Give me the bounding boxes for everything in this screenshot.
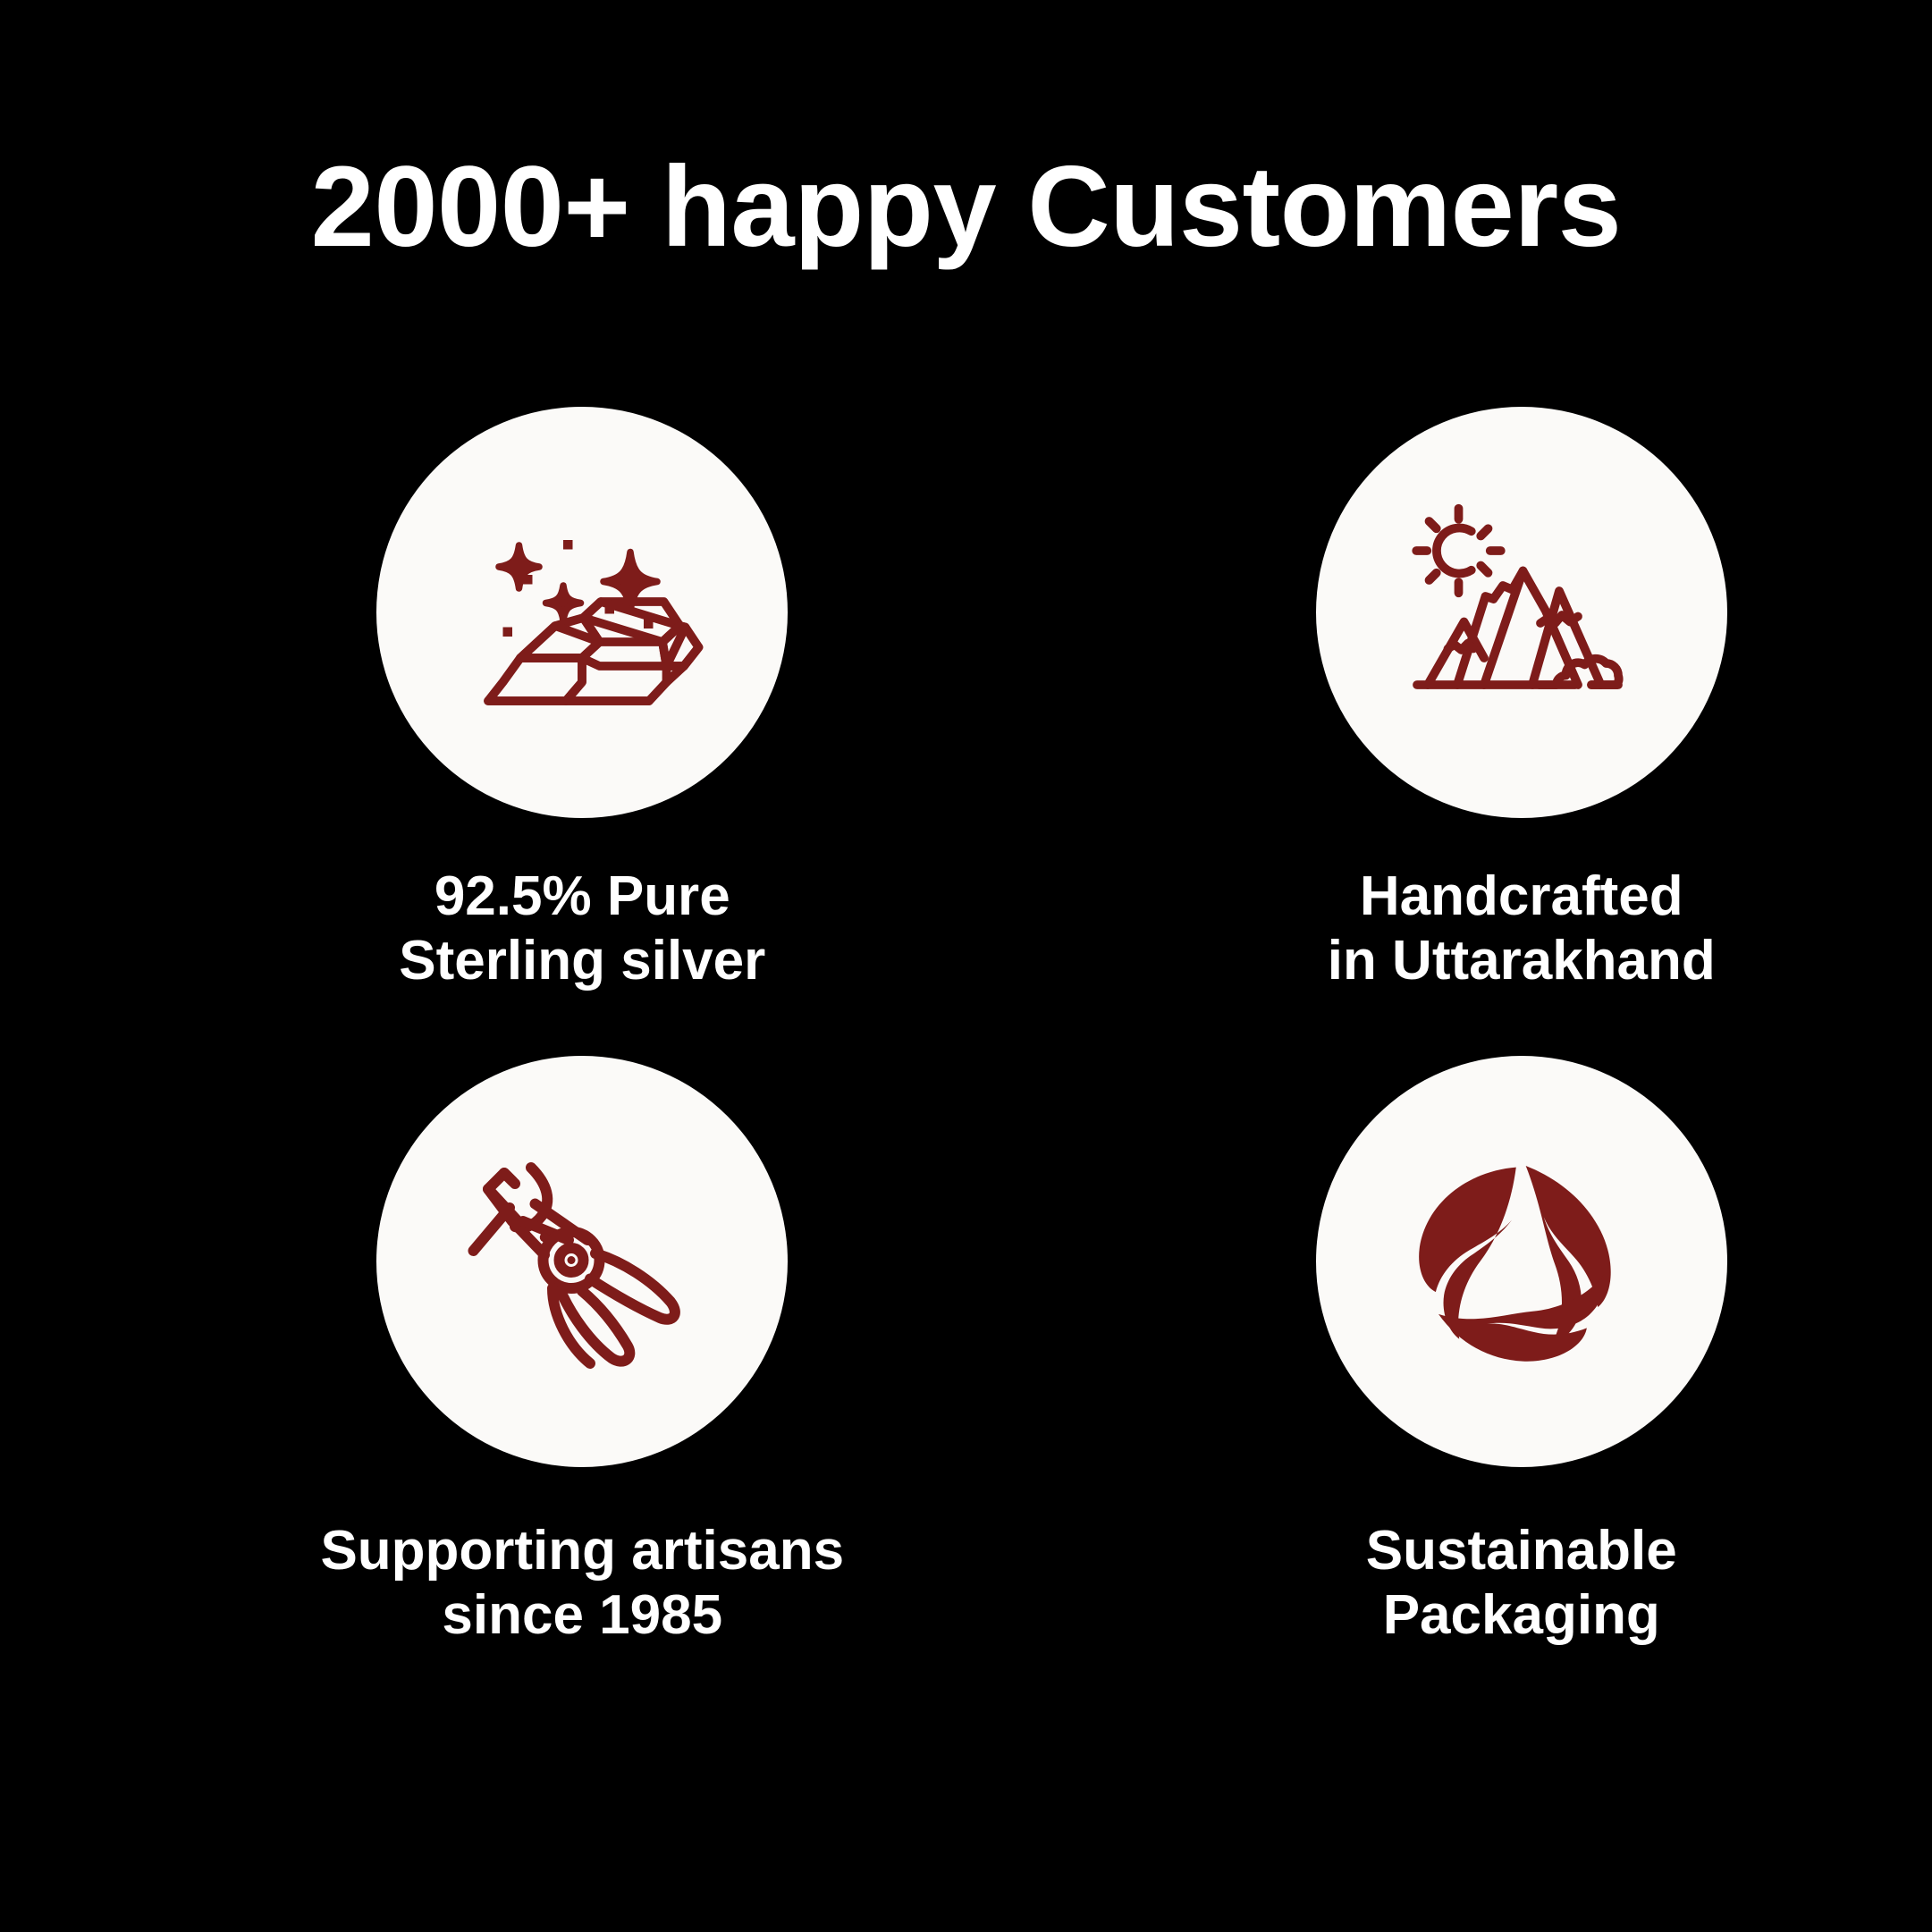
icon-badge-pliers: [376, 1056, 788, 1467]
feature-label-sterling-silver: 92.5% Pure Sterling silver: [399, 865, 765, 993]
promo-poster: 2000+ happy Customers: [0, 0, 1932, 1932]
feature-item-packaging: Sustainable Packaging: [966, 1056, 1932, 1648]
feature-item-handcrafted: Handcrafted in Uttarakhand: [966, 407, 1932, 993]
icon-badge-mountains: [1316, 407, 1727, 818]
feature-label-artisans: Supporting artisans since 1985: [320, 1519, 844, 1648]
icon-badge-silver: [376, 407, 788, 818]
icon-badge-leaves: [1316, 1056, 1727, 1467]
three-leaves-recycle-icon: [1383, 1123, 1660, 1400]
feature-label-handcrafted: Handcrafted in Uttarakhand: [1328, 865, 1716, 993]
feature-grid: 92.5% Pure Sterling silver: [0, 407, 1932, 1648]
page-title: 2000+ happy Customers: [0, 150, 1932, 265]
feature-item-artisans: Supporting artisans since 1985: [0, 1056, 966, 1648]
feature-item-sterling-silver: 92.5% Pure Sterling silver: [0, 407, 966, 993]
mountains-sun-icon: [1388, 478, 1656, 747]
silver-bars-sparkle-icon: [448, 478, 716, 747]
feature-label-packaging: Sustainable Packaging: [1366, 1519, 1677, 1648]
jewelry-pliers-icon: [448, 1127, 716, 1396]
